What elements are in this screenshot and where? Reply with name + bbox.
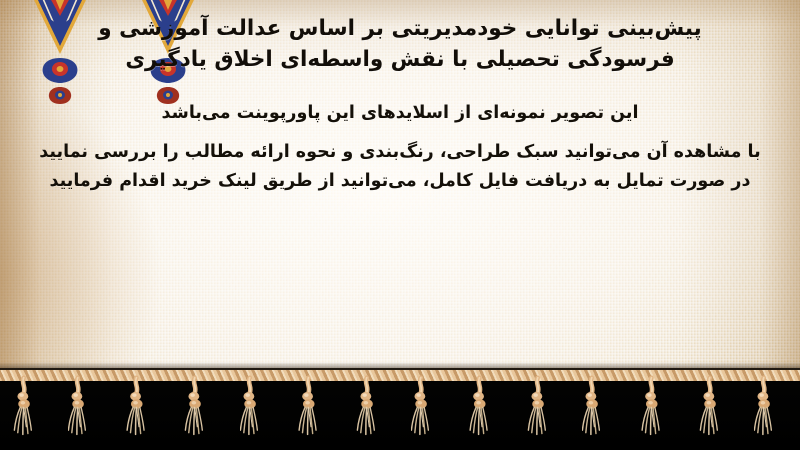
tassel — [411, 372, 433, 446]
tassel-row — [0, 368, 800, 450]
tassel — [182, 372, 204, 446]
carpet-fringe-band — [0, 368, 800, 450]
tassel — [582, 372, 604, 446]
slide-title: پیش‌بینی توانایی خودمدیریتی بر اساس عدال… — [14, 0, 786, 75]
tassel — [125, 372, 147, 446]
tassel — [354, 372, 376, 446]
tassel — [297, 372, 319, 446]
tassel — [11, 372, 33, 446]
title-line: پیش‌بینی توانایی خودمدیریتی بر اساس عدال… — [14, 14, 786, 45]
body-line: با مشاهده آن می‌توانید سبک طراحی، رنگ‌بن… — [14, 138, 786, 166]
tassel — [68, 372, 90, 446]
body-line: در صورت تمایل به دریافت فایل کامل، می‌تو… — [14, 167, 786, 195]
tassel — [468, 372, 490, 446]
tassel — [697, 372, 719, 446]
slide-body: این تصویر نمونه‌ای از اسلایدهای این پاور… — [14, 75, 786, 195]
tassel — [525, 372, 547, 446]
slide-text-layer: پیش‌بینی توانایی خودمدیریتی بر اساس عدال… — [0, 0, 800, 195]
body-line: این تصویر نمونه‌ای از اسلایدهای این پاور… — [14, 99, 786, 127]
tassel — [640, 372, 662, 446]
title-line: فرسودگی تحصیلی با نقش واسطه‌ای اخلاق یاد… — [14, 45, 786, 76]
presentation-slide: پیش‌بینی توانایی خودمدیریتی بر اساس عدال… — [0, 0, 800, 450]
tassel — [754, 372, 776, 446]
tassel — [240, 372, 262, 446]
